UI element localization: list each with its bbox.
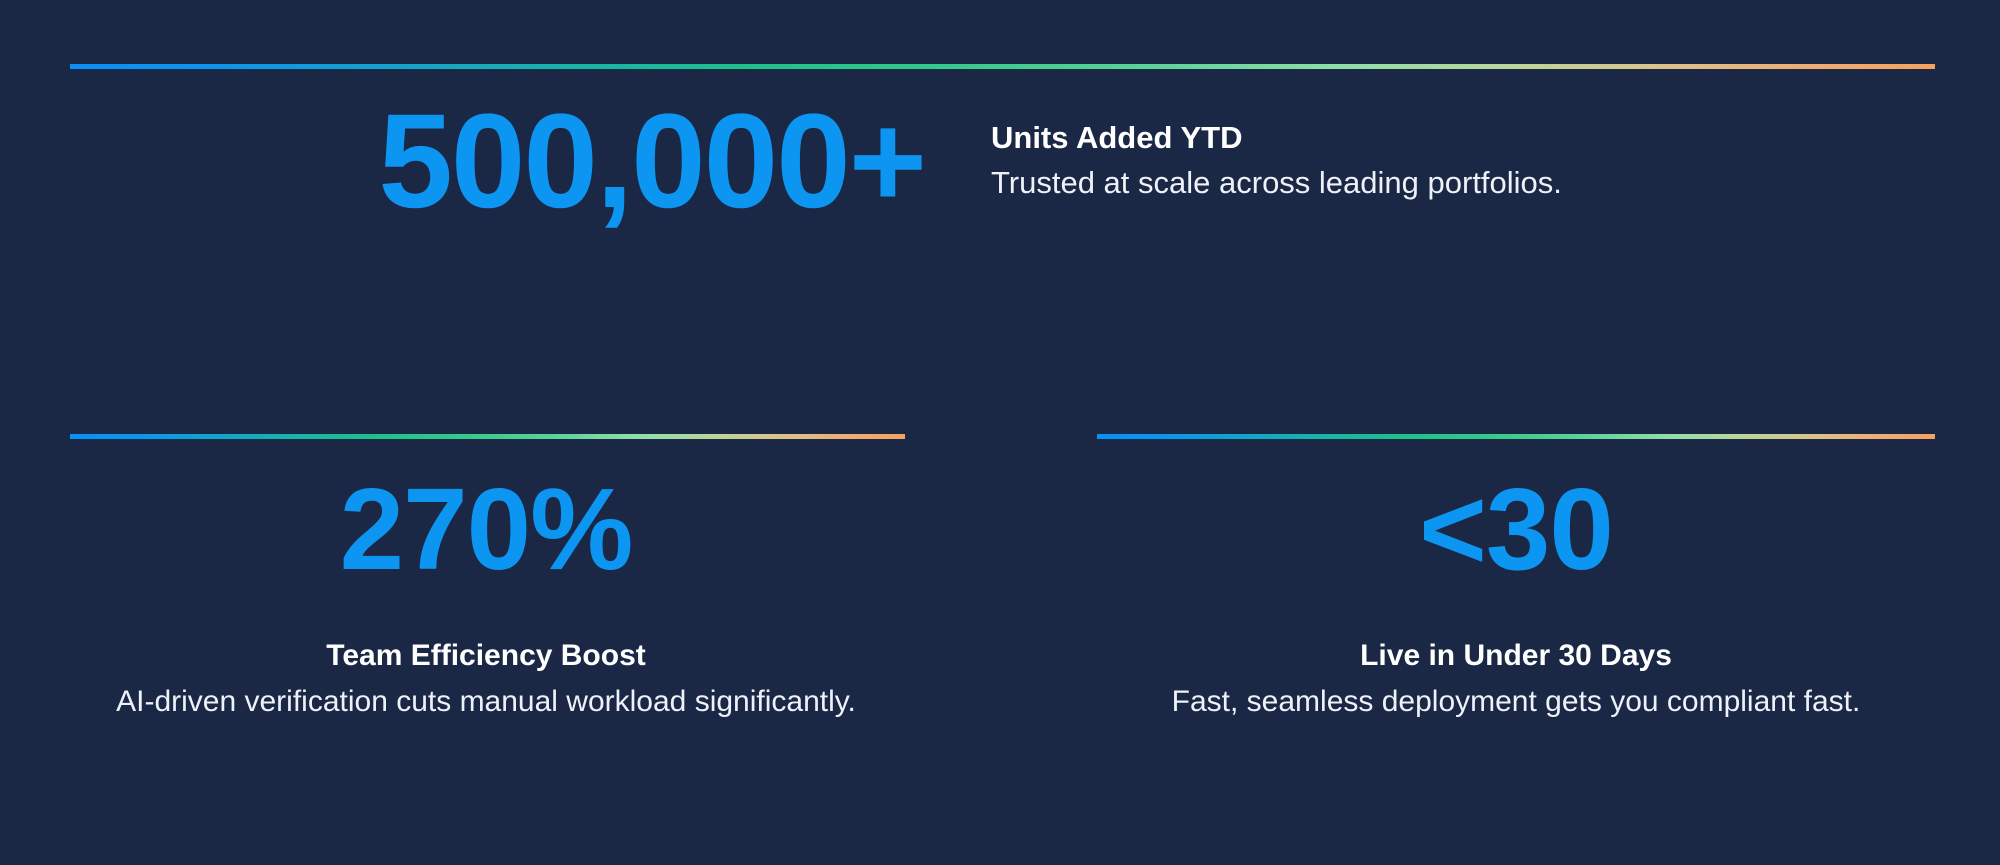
stat-hero: 500,000+ Units Added YTD Trusted at scal… <box>0 96 2000 246</box>
stat-card-description: Fast, seamless deployment gets you compl… <box>1097 679 1935 725</box>
divider-card-deployment <box>1097 434 1935 439</box>
stat-card-value: <30 <box>1097 468 1935 590</box>
stats-panel: 500,000+ Units Added YTD Trusted at scal… <box>0 0 2000 865</box>
divider-hero <box>70 64 1935 69</box>
stat-card-description: AI-driven verification cuts manual workl… <box>67 679 905 725</box>
stat-hero-title: Units Added YTD <box>991 116 1562 160</box>
stat-card-value: 270% <box>67 468 905 590</box>
divider-card-efficiency <box>70 434 905 439</box>
stat-card-deployment: <30 Live in Under 30 Days Fast, seamless… <box>1097 468 1935 725</box>
stat-hero-value: 500,000+ <box>0 96 925 228</box>
stat-hero-description: Trusted at scale across leading portfoli… <box>991 160 1562 206</box>
stat-card-efficiency: 270% Team Efficiency Boost AI-driven ver… <box>67 468 905 725</box>
stat-hero-copy: Units Added YTD Trusted at scale across … <box>991 96 1562 206</box>
stat-card-title: Live in Under 30 Days <box>1097 635 1935 677</box>
stat-card-title: Team Efficiency Boost <box>67 635 905 677</box>
